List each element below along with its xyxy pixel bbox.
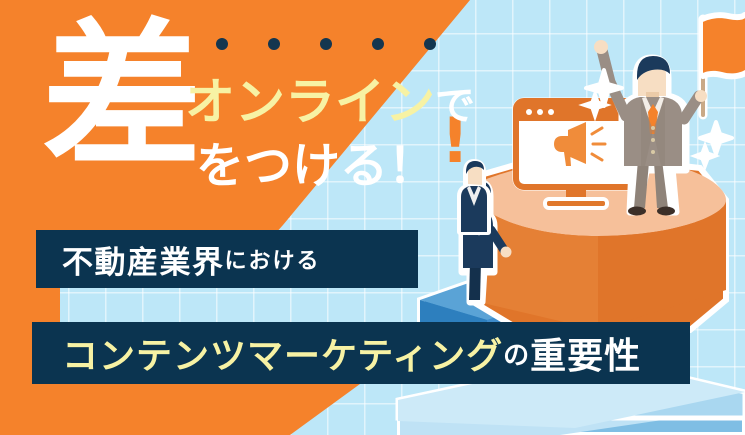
emphasis-dot	[320, 38, 332, 50]
hero-banner: ! 差 オンラインで をつける！ 不動産業界 における コンテンツマーケティング…	[0, 0, 745, 435]
subtitle-box-marketing: コンテンツマーケティング の 重要性	[32, 322, 690, 384]
orange-bottom-wedge	[0, 384, 360, 435]
subtitle-industry-suffix: における	[225, 243, 321, 275]
subtitle-marketing-particle: の	[503, 335, 530, 372]
emphasis-dot	[216, 38, 228, 50]
headline-line-2: をつける！	[196, 126, 436, 196]
headline-line-1: オンラインで	[185, 62, 475, 134]
subtitle-marketing-main: コンテンツマーケティング	[62, 327, 503, 379]
emphasis-dots	[216, 38, 436, 50]
subtitle-marketing-emphasis: 重要性	[530, 327, 641, 379]
emphasis-dot	[372, 38, 384, 50]
subtitle-industry-main: 不動産業界	[62, 237, 225, 282]
headline-line-1-yellow: オンライン	[185, 73, 435, 131]
headline-kanji: 差	[42, 22, 202, 172]
emphasis-dot	[424, 38, 436, 50]
subtitle-box-industry: 不動産業界 における	[36, 230, 418, 288]
headline-line-1-suffix: で	[435, 83, 475, 129]
emphasis-dot	[268, 38, 280, 50]
headline-group: 差 オンラインで をつける！	[0, 0, 745, 215]
